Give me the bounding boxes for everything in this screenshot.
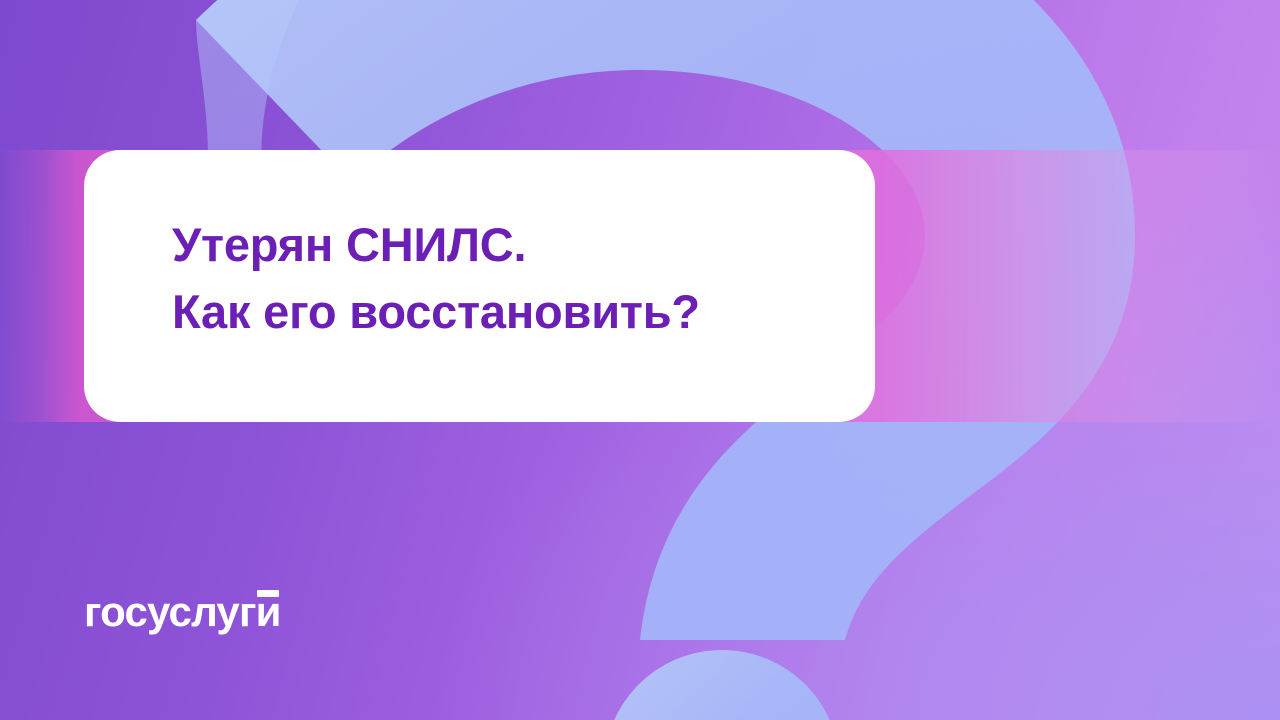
logo-main-text: госуслуг [84,588,256,635]
gosuslugi-logo[interactable]: госуслуги [84,591,281,633]
banner-canvas: Утерян СНИЛС. Как его восстановить? госу… [0,0,1280,720]
headline-line-2: Как его восстановить? [172,279,872,346]
logo-tail-letter: и [256,591,281,633]
headline-line-1: Утерян СНИЛС. [172,212,872,279]
headline-block: Утерян СНИЛС. Как его восстановить? [172,212,872,345]
headline-card: Утерян СНИЛС. Как его восстановить? [84,150,875,422]
